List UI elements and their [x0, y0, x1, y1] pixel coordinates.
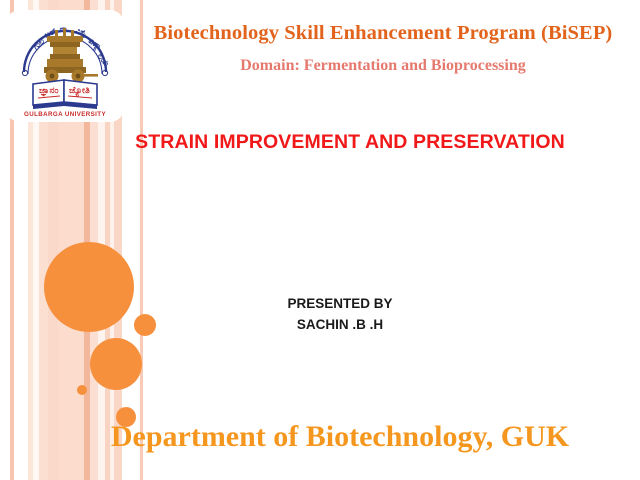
presentation-slide: ಗುಲ ಬರ್ ಗಾ ವಿಶ್ವ ವಿದ್ಯಾ ಲಯ	[0, 0, 640, 480]
circle-medium	[90, 338, 142, 390]
circle-small	[134, 314, 156, 336]
svg-text:ಜ್ಞಾನಂ: ಜ್ಞಾನಂ	[39, 85, 58, 97]
circle-large	[44, 242, 134, 332]
presented-by-label: PRESENTED BY	[180, 294, 500, 315]
department-footer: Department of Biotechnology, GUK	[70, 420, 610, 454]
domain-subtitle: Domain: Fermentation and Bioprocessing	[128, 57, 638, 75]
program-title: Biotechnology Skill Enhancement Program …	[128, 22, 638, 46]
svg-text:GULBARGA UNIVERSITY: GULBARGA UNIVERSITY	[24, 111, 106, 118]
presenter-block: PRESENTED BY SACHIN .B .H	[180, 294, 500, 336]
gulbarga-university-emblem-icon: ಗುಲ ಬರ್ ಗಾ ವಿಶ್ವ ವಿದ್ಯಾ ಲಯ	[6, 10, 124, 122]
circle-tiny	[77, 385, 87, 395]
page-title: STRAIN IMPROVEMENT AND PRESERVATION	[100, 131, 600, 154]
presenter-name: SACHIN .B .H	[180, 315, 500, 336]
